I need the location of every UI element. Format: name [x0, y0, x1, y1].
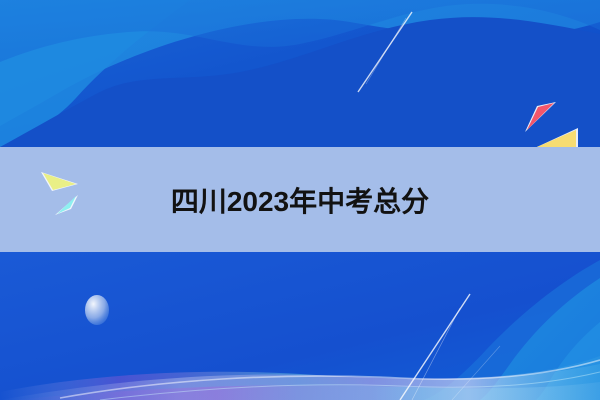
bottom-artwork — [0, 252, 600, 400]
top-waves-artwork — [0, 0, 600, 147]
banner-graphic: 四川2023年中考总分 — [0, 0, 600, 400]
title-band: 四川2023年中考总分 — [0, 147, 600, 252]
bottom-decorative-section — [0, 252, 600, 400]
page-title: 四川2023年中考总分 — [0, 147, 600, 252]
glowing-sphere-icon — [85, 295, 109, 325]
top-decorative-section — [0, 0, 600, 147]
